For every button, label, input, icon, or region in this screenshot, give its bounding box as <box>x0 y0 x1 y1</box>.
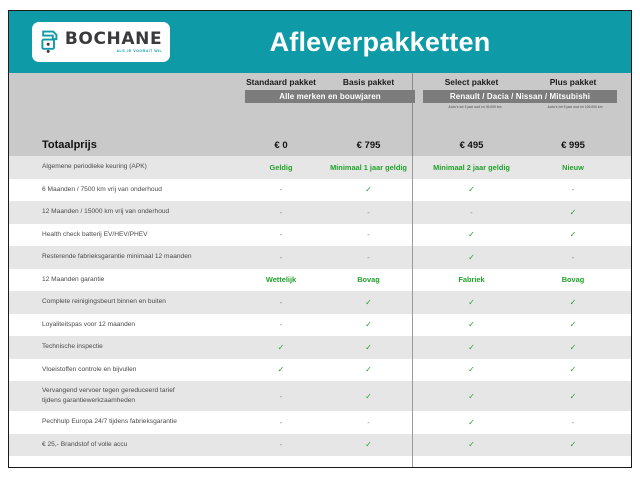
table-row: 12 Maanden garantieWettelijkBovagFabriek… <box>9 269 631 292</box>
column-header-band: Standaard pakket Basis pakket Select pak… <box>9 73 631 136</box>
row-cell: ✓ <box>523 208 623 217</box>
row-cell: - <box>325 208 412 217</box>
page-canvas: BOCHANE ALS JE VOORUIT WIL Afleverpakket… <box>0 0 640 480</box>
row-cell: Nieuw <box>523 163 623 172</box>
group-divider-body <box>412 156 413 468</box>
row-cell: - <box>523 418 623 427</box>
price-select: € 495 <box>420 140 523 151</box>
afleverpakketten-sheet: BOCHANE ALS JE VOORUIT WIL Afleverpakket… <box>8 10 632 468</box>
row-cell: ✓ <box>420 365 523 374</box>
row-cell: ✓ <box>523 298 623 307</box>
row-label: Health check batterij EV/HEV/PHEV <box>9 230 237 240</box>
row-cell: - <box>237 440 325 449</box>
row-label: Vloeistoffen controle en bijvullen <box>9 365 237 375</box>
row-cell: - <box>523 253 623 262</box>
header-banner: BOCHANE ALS JE VOORUIT WIL Afleverpakket… <box>9 11 631 73</box>
table-row: Algemene periodieke keuring (APK)GeldigM… <box>9 156 631 179</box>
table-row: Pechhulp Europa 24/7 tijdens fabrieksgar… <box>9 411 631 434</box>
row-label: Technische inspectie <box>9 342 237 352</box>
row-cell: ✓ <box>420 253 523 262</box>
row-cell: ✓ <box>325 365 412 374</box>
row-label: 6 Maanden / 7500 km vrij van onderhoud <box>9 185 237 195</box>
row-cell: - <box>325 230 412 239</box>
row-cell: ✓ <box>420 320 523 329</box>
row-cell: ✓ <box>523 320 623 329</box>
row-cell: - <box>523 185 623 194</box>
row-cell: Minimaal 2 jaar geldig <box>420 163 523 172</box>
group-pill-left-wrap: Alle merken en bouwjaren <box>245 90 415 103</box>
row-label: Algemene periodieke keuring (APK) <box>9 162 237 172</box>
row-cell: ✓ <box>420 298 523 307</box>
row-cell: - <box>237 298 325 307</box>
row-label: 12 Maanden garantie <box>9 275 237 285</box>
row-label: Pechhulp Europa 24/7 tijdens fabrieksgar… <box>9 417 237 427</box>
row-cell: Minimaal 1 jaar geldig <box>325 163 412 172</box>
row-cell: ✓ <box>420 392 523 401</box>
table-row: 12 Maanden / 15000 km vrij van onderhoud… <box>9 201 631 224</box>
row-cell: - <box>237 418 325 427</box>
table-row: € 25,- Brandstof of volle accu-✓✓✓ <box>9 434 631 457</box>
row-cell: ✓ <box>420 418 523 427</box>
row-label: Loyaliteitspas voor 12 maanden <box>9 320 237 330</box>
table-row: Health check batterij EV/HEV/PHEV--✓✓ <box>9 224 631 247</box>
row-cell: - <box>237 253 325 262</box>
row-cell: ✓ <box>325 440 412 449</box>
row-cell: ✓ <box>523 343 623 352</box>
row-cell: ✓ <box>420 185 523 194</box>
row-label: Complete reinigingsbeurt binnen en buite… <box>9 297 237 307</box>
table-row: Complete reinigingsbeurt binnen en buite… <box>9 291 631 314</box>
price-plus: € 995 <box>523 140 623 151</box>
row-cell: Bovag <box>523 275 623 284</box>
page-title: Afleverpakketten <box>9 27 631 58</box>
row-cell: ✓ <box>325 185 412 194</box>
row-cell: ✓ <box>523 230 623 239</box>
row-cell: ✓ <box>237 343 325 352</box>
table-row: Vloeistoffen controle en bijvullen✓✓✓✓ <box>9 359 631 382</box>
row-cell: - <box>237 208 325 217</box>
column-note-select: Auto's tot 3 jaar oud en 30.000 km <box>425 105 525 109</box>
group-pill-left: Alle merken en bouwjaren <box>245 90 415 103</box>
row-cell: ✓ <box>237 365 325 374</box>
group-pill-right: Renault / Dacia / Nissan / Mitsubishi <box>423 90 617 103</box>
row-cell: ✓ <box>325 343 412 352</box>
column-header-plus: Plus pakket <box>523 77 623 87</box>
row-label: 12 Maanden / 15000 km vrij van onderhoud <box>9 207 237 217</box>
column-note-plus: Auto's tot 5 jaar oud en 100.000 km <box>525 105 625 109</box>
total-price-row: Totaalprijs € 0 € 795 € 495 € 995 <box>9 136 631 156</box>
row-cell: - <box>237 230 325 239</box>
row-cell: - <box>237 185 325 194</box>
feature-rows: Algemene periodieke keuring (APK)GeldigM… <box>9 156 631 456</box>
row-cell: Geldig <box>237 163 325 172</box>
price-cells: € 0 € 795 € 495 € 995 <box>9 140 631 151</box>
row-cell: ✓ <box>420 440 523 449</box>
row-cell: Fabriek <box>420 275 523 284</box>
group-pill-right-wrap: Renault / Dacia / Nissan / Mitsubishi <box>423 90 617 103</box>
row-cell: ✓ <box>420 230 523 239</box>
column-note-row: Auto's tot 3 jaar oud en 30.000 km Auto'… <box>9 105 625 109</box>
row-cell: ✓ <box>325 320 412 329</box>
row-cell: Wettelijk <box>237 275 325 284</box>
price-basis: € 795 <box>325 140 412 151</box>
row-label: € 25,- Brandstof of volle accu <box>9 440 237 450</box>
row-cell: ✓ <box>420 343 523 352</box>
row-cell: - <box>237 320 325 329</box>
row-cell: ✓ <box>523 365 623 374</box>
row-label: Vervangend vervoer tegen gereduceerd tar… <box>9 386 237 405</box>
row-cell: Bovag <box>325 275 412 284</box>
table-row: Technische inspectie✓✓✓✓ <box>9 336 631 359</box>
row-cell: ✓ <box>523 392 623 401</box>
row-cell: - <box>325 418 412 427</box>
table-row: Loyaliteitspas voor 12 maanden-✓✓✓ <box>9 314 631 337</box>
row-label: Resterende fabrieksgarantie minimaal 12 … <box>9 252 237 262</box>
row-cell: - <box>420 208 523 217</box>
table-row: 6 Maanden / 7500 km vrij van onderhoud-✓… <box>9 179 631 202</box>
table-row: Vervangend vervoer tegen gereduceerd tar… <box>9 381 631 411</box>
column-header-basis: Basis pakket <box>325 77 412 87</box>
column-name-row: Standaard pakket Basis pakket Select pak… <box>9 77 631 87</box>
row-cell: ✓ <box>325 298 412 307</box>
table-row: Resterende fabrieksgarantie minimaal 12 … <box>9 246 631 269</box>
row-cell: ✓ <box>523 440 623 449</box>
row-cell: - <box>325 253 412 262</box>
column-header-standaard: Standaard pakket <box>237 77 325 87</box>
row-cell: ✓ <box>325 392 412 401</box>
row-cell: - <box>237 392 325 401</box>
price-standaard: € 0 <box>237 140 325 151</box>
column-header-select: Select pakket <box>420 77 523 87</box>
